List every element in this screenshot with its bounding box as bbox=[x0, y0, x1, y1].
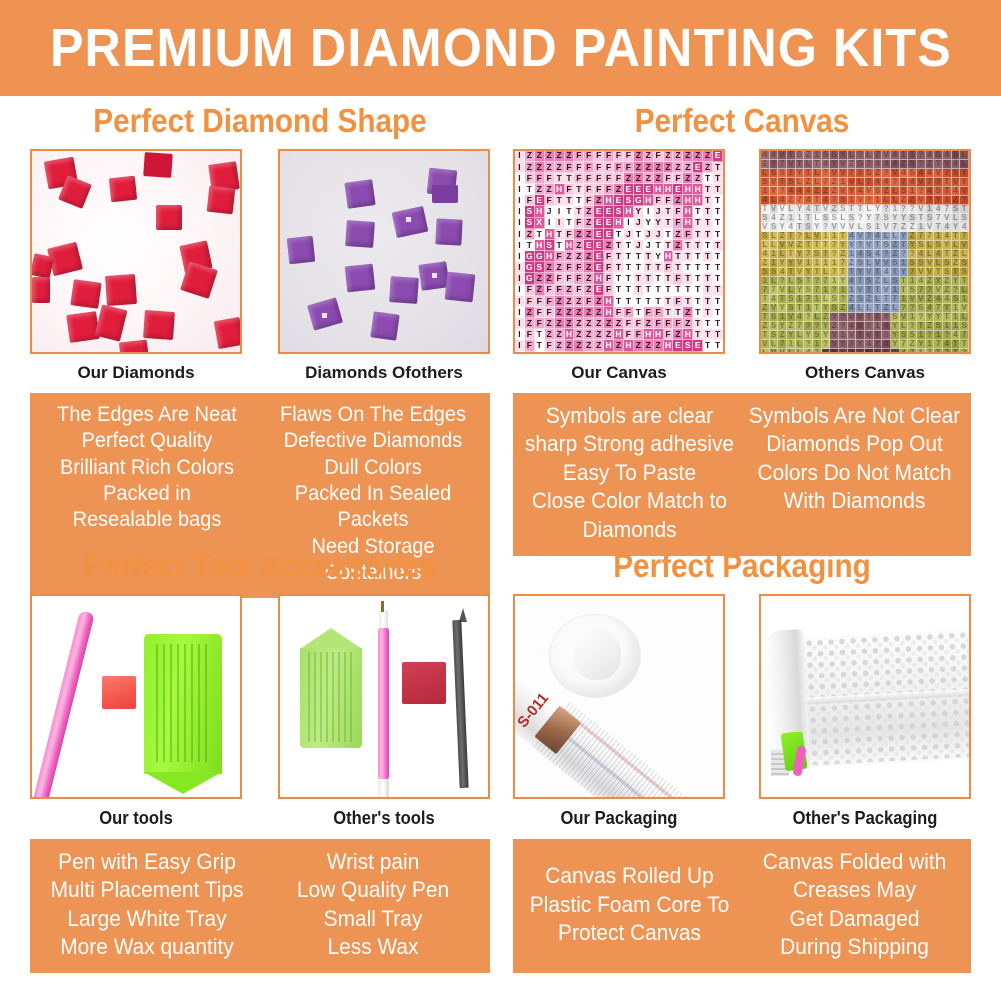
canvas-cell: T bbox=[664, 218, 674, 229]
canvas-cell: T bbox=[634, 285, 644, 296]
canvas-cell: Z bbox=[693, 173, 703, 184]
canvas-cell: F bbox=[584, 184, 594, 195]
canvas-cell: H bbox=[644, 329, 654, 340]
canvas-cell: I bbox=[515, 240, 525, 251]
canvas-cell: H bbox=[683, 329, 693, 340]
canvas-cell: Z bbox=[683, 318, 693, 329]
canvas-cell: T bbox=[664, 285, 674, 296]
canvas-cell: Y bbox=[654, 218, 664, 229]
canvas-cell: T bbox=[525, 184, 535, 195]
canvas-cell: Z bbox=[926, 349, 935, 354]
canvas-cell: I bbox=[555, 206, 565, 217]
section-heading: Perfect Packaging bbox=[536, 549, 948, 584]
canvas-cell: T bbox=[535, 340, 545, 351]
canvas-cell: F bbox=[545, 340, 555, 351]
canvas-cell: H bbox=[693, 195, 703, 206]
photo-our-packaging: S-011 bbox=[513, 594, 725, 799]
canvas-cell: F bbox=[574, 285, 584, 296]
canvas-cell: T bbox=[535, 229, 545, 240]
canvas-cell: T bbox=[664, 273, 674, 284]
canvas-cell: Y bbox=[634, 206, 644, 217]
canvas-cell: E bbox=[604, 229, 614, 240]
canvas-cell: F bbox=[614, 173, 624, 184]
canvas-cell: F bbox=[565, 273, 575, 284]
panel-our-canvas: IZZZZZFFFFFFZZFZZZZZEIZZZZFFFFFFFZZZZZZE… bbox=[513, 149, 725, 383]
canvas-cell: L bbox=[865, 349, 874, 354]
canvas-cell: F bbox=[604, 262, 614, 273]
canvas-cell: T bbox=[614, 229, 624, 240]
canvas-cell: H bbox=[594, 273, 604, 284]
section-packaging: Perfect Packaging S-011 Our P bbox=[513, 549, 971, 973]
canvas-cell: T bbox=[713, 318, 723, 329]
canvas-cell: H bbox=[555, 184, 565, 195]
canvas-cell: T bbox=[703, 195, 713, 206]
canvas-cell: I bbox=[515, 151, 525, 162]
canvas-cell: Z bbox=[644, 173, 654, 184]
canvas-cell: H bbox=[664, 184, 674, 195]
canvas-cell: Z bbox=[584, 229, 594, 240]
canvas-cell: F bbox=[545, 195, 555, 206]
canvas-cell: T bbox=[713, 162, 723, 173]
canvas-cell: Z bbox=[654, 340, 664, 351]
canvas-cell: H bbox=[683, 184, 693, 195]
canvas-cell: Z bbox=[644, 318, 654, 329]
canvas-cell: T bbox=[713, 240, 723, 251]
canvas-cell: T bbox=[703, 273, 713, 284]
canvas-cell: T bbox=[703, 318, 713, 329]
canvas-cell: H bbox=[654, 184, 664, 195]
canvas-cell: S bbox=[525, 218, 535, 229]
canvas-cell: Z bbox=[574, 340, 584, 351]
canvas-cell: F bbox=[535, 318, 545, 329]
canvas-cell: H bbox=[624, 206, 634, 217]
canvas-cell: E bbox=[604, 218, 614, 229]
panel-other-tools: Other's tools bbox=[278, 594, 490, 829]
canvas-cell: J bbox=[634, 218, 644, 229]
canvas-cell: Z bbox=[565, 307, 575, 318]
canvas-cell: I bbox=[515, 162, 525, 173]
canvas-cell: Z bbox=[565, 340, 575, 351]
canvas-cell: H bbox=[545, 229, 555, 240]
canvas-cell: Z bbox=[604, 240, 614, 251]
canvas-cell: F bbox=[525, 329, 535, 340]
infographic-page: PREMIUM DIAMOND PAINTING KITS Perfect Di… bbox=[0, 0, 1001, 1001]
canvas-cell: I bbox=[515, 206, 525, 217]
canvas-cell: T bbox=[693, 206, 703, 217]
canvas-cell: T bbox=[703, 184, 713, 195]
canvas-cell: Z bbox=[654, 173, 664, 184]
canvas-cell: F bbox=[535, 296, 545, 307]
canvas-cell: G bbox=[525, 251, 535, 262]
textblock-theirs: Symbols Are Not Clear Diamonds Pop Out C… bbox=[748, 402, 962, 545]
canvas-cell: Z bbox=[574, 318, 584, 329]
canvas-cell: T bbox=[634, 273, 644, 284]
textblock-tools: Pen with Easy Grip Multi Placement Tips … bbox=[30, 839, 490, 973]
canvas-cell: Z bbox=[584, 340, 594, 351]
canvas-cell: F bbox=[624, 151, 634, 162]
canvas-cell: L bbox=[761, 349, 770, 354]
canvas-cell: Z bbox=[565, 251, 575, 262]
canvas-cell: T bbox=[664, 240, 674, 251]
canvas-cell: I bbox=[515, 262, 525, 273]
canvas-cell: F bbox=[673, 296, 683, 307]
canvas-cell: T bbox=[565, 195, 575, 206]
canvas-cell: T bbox=[525, 240, 535, 251]
canvas-cell: F bbox=[664, 262, 674, 273]
panel-our-tools: Our tools bbox=[30, 594, 242, 829]
panel-other-diamonds: Diamonds Ofothers bbox=[278, 149, 490, 383]
canvas-cell: T bbox=[673, 251, 683, 262]
canvas-cell: H bbox=[644, 195, 654, 206]
canvas-cell: H bbox=[604, 296, 614, 307]
canvas-cell: Z bbox=[565, 151, 575, 162]
canvas-cell: H bbox=[604, 307, 614, 318]
canvas-cell: T bbox=[565, 206, 575, 217]
canvas-cell: Z bbox=[584, 285, 594, 296]
canvas-cell: I bbox=[515, 296, 525, 307]
canvas-cell: T bbox=[614, 262, 624, 273]
canvas-cell: F bbox=[574, 273, 584, 284]
canvas-cell: F bbox=[574, 218, 584, 229]
canvas-symbol-grid: IZZZZZFFFFFFZZFZZZZZEIZZZZFFFFFFFZZZZZZE… bbox=[515, 151, 723, 352]
canvas-cell: S bbox=[525, 206, 535, 217]
page-title: PREMIUM DIAMOND PAINTING KITS bbox=[50, 17, 952, 79]
canvas-cell: T bbox=[614, 296, 624, 307]
canvas-cell: S bbox=[683, 340, 693, 351]
section-heading: Perfect Diamond Shape bbox=[53, 104, 467, 139]
header-banner: PREMIUM DIAMOND PAINTING KITS bbox=[0, 0, 1001, 96]
canvas-cell: Y bbox=[644, 218, 654, 229]
canvas-cell: Y bbox=[654, 251, 664, 262]
panel-pair: S-011 Our Packaging bbox=[513, 594, 971, 829]
canvas-cell: G bbox=[525, 273, 535, 284]
canvas-cell: Z bbox=[614, 184, 624, 195]
canvas-cell: E bbox=[673, 340, 683, 351]
canvas-cell: T bbox=[673, 262, 683, 273]
canvas-cell: T bbox=[644, 273, 654, 284]
panel-other-canvas: 44VTSZ1SSYL?L7V41T?4S4SL1?7VTLT4YVZS7444… bbox=[759, 149, 971, 383]
canvas-cell: I bbox=[515, 285, 525, 296]
canvas-cell: T bbox=[624, 251, 634, 262]
canvas-cell: I bbox=[515, 318, 525, 329]
canvas-cell: T bbox=[693, 229, 703, 240]
canvas-cell: T bbox=[713, 307, 723, 318]
canvas-cell: Z bbox=[574, 251, 584, 262]
canvas-cell: I bbox=[515, 340, 525, 351]
canvas-cell: Z bbox=[693, 151, 703, 162]
canvas-cell: J bbox=[634, 240, 644, 251]
canvas-cell: T bbox=[654, 240, 664, 251]
canvas-cell: T bbox=[683, 273, 693, 284]
canvas-cell: F bbox=[555, 285, 565, 296]
canvas-cell: T bbox=[644, 262, 654, 273]
canvas-cell: F bbox=[574, 173, 584, 184]
canvas-cell: Z bbox=[683, 151, 693, 162]
canvas-cell: F bbox=[624, 318, 634, 329]
mailer-contents bbox=[771, 732, 815, 776]
canvas-cell: T bbox=[614, 251, 624, 262]
canvas-cell: T bbox=[693, 240, 703, 251]
canvas-cell: Z bbox=[634, 340, 644, 351]
canvas-cell: X bbox=[535, 218, 545, 229]
canvas-cell: H bbox=[604, 340, 614, 351]
canvas-cell: T bbox=[703, 285, 713, 296]
canvas-cell: E bbox=[594, 206, 604, 217]
canvas-cell: F bbox=[584, 195, 594, 206]
panel-pair: IZZZZZFFFFFFZZFZZZZZEIZZZZFFFFFFFZZZZZZE… bbox=[513, 149, 971, 383]
canvas-cell: Z bbox=[634, 151, 644, 162]
canvas-cell: E bbox=[594, 218, 604, 229]
caption-other-packaging: Other's Packaging bbox=[767, 808, 962, 829]
canvas-cell: S bbox=[535, 262, 545, 273]
canvas-cell: Z bbox=[614, 318, 624, 329]
canvas-cell: T bbox=[693, 307, 703, 318]
canvas-cell: I bbox=[515, 229, 525, 240]
canvas-cell: Z bbox=[555, 262, 565, 273]
canvas-cell: J bbox=[545, 206, 555, 217]
canvas-cell: I bbox=[515, 307, 525, 318]
caption-other-canvas: Others Canvas bbox=[759, 363, 971, 383]
canvas-cell: H bbox=[624, 340, 634, 351]
canvas-cell: 1 bbox=[891, 349, 900, 354]
tray-ribs bbox=[308, 652, 354, 742]
canvas-cell: Z bbox=[664, 162, 674, 173]
canvas-cell: F bbox=[584, 162, 594, 173]
canvas-cell: T bbox=[644, 285, 654, 296]
panel-pair: Our Diamonds bbox=[30, 149, 490, 383]
canvas-cell: T bbox=[664, 206, 674, 217]
canvas-cell: J bbox=[624, 229, 634, 240]
canvas-cell: T bbox=[624, 240, 634, 251]
canvas-cell: H bbox=[565, 329, 575, 340]
canvas-cell: T bbox=[703, 173, 713, 184]
canvas-cell: I bbox=[624, 218, 634, 229]
canvas-cell: Z bbox=[525, 307, 535, 318]
canvas-cell: H bbox=[535, 240, 545, 251]
canvas-cell: F bbox=[673, 318, 683, 329]
tray-ribs bbox=[156, 644, 210, 762]
canvas-cell: F bbox=[664, 318, 674, 329]
canvas-cell: T bbox=[683, 296, 693, 307]
caption-our-tools: Our tools bbox=[38, 808, 233, 829]
canvas-cell: T bbox=[565, 173, 575, 184]
canvas-cell: H bbox=[654, 329, 664, 340]
canvas-cell: T bbox=[634, 229, 644, 240]
canvas-cell: T bbox=[664, 296, 674, 307]
canvas-cell: T bbox=[693, 318, 703, 329]
canvas-cell: Z bbox=[535, 151, 545, 162]
photo-our-canvas: IZZZZZFFFFFFZZFZZZZZEIZZZZFFFFFFFZZZZZZE… bbox=[513, 149, 725, 354]
canvas-cell: T bbox=[713, 262, 723, 273]
canvas-cell: F bbox=[545, 173, 555, 184]
canvas-cell: Z bbox=[525, 318, 535, 329]
canvas-cell: H bbox=[683, 206, 693, 217]
canvas-cell: T bbox=[693, 262, 703, 273]
canvas-cell: Z bbox=[555, 307, 565, 318]
canvas-cell: F bbox=[634, 318, 644, 329]
canvas-cell: Z bbox=[644, 151, 654, 162]
canvas-cell: I bbox=[515, 251, 525, 262]
caption-other-diamonds: Diamonds Ofothers bbox=[278, 363, 490, 383]
canvas-cell: H bbox=[614, 329, 624, 340]
canvas-cell: T bbox=[683, 285, 693, 296]
canvas-cell: T bbox=[654, 262, 664, 273]
canvas-cell: F bbox=[614, 162, 624, 173]
section-heading: Perfect Canvas bbox=[536, 104, 948, 139]
canvas-cell: T bbox=[703, 240, 713, 251]
canvas-cell: Z bbox=[584, 206, 594, 217]
canvas-cell: F bbox=[604, 184, 614, 195]
tube-cap-inner bbox=[573, 628, 621, 680]
canvas-cell: F bbox=[634, 329, 644, 340]
canvas-cell: V bbox=[770, 349, 779, 354]
canvas-cell: H bbox=[614, 218, 624, 229]
textblock-theirs: Wrist pain Low Quality Pen Small Tray Le… bbox=[266, 848, 481, 962]
canvas-cell: Z bbox=[555, 296, 565, 307]
canvas-cell: I bbox=[515, 218, 525, 229]
canvas-cell: T bbox=[614, 285, 624, 296]
canvas-cell: S bbox=[545, 240, 555, 251]
canvas-cell: Z bbox=[673, 240, 683, 251]
canvas-cell: Z bbox=[683, 173, 693, 184]
canvas-cell: F bbox=[525, 195, 535, 206]
canvas-cell: Z bbox=[624, 173, 634, 184]
canvas-cell: T bbox=[703, 329, 713, 340]
canvas-cell: T bbox=[693, 285, 703, 296]
canvas-cell: F bbox=[654, 195, 664, 206]
canvas-cell: J bbox=[654, 229, 664, 240]
canvas-cell: Z bbox=[584, 329, 594, 340]
canvas-cell: F bbox=[604, 173, 614, 184]
canvas-symbol-grid: 44VTSZ1SSYL?L7V41T?4S4SL1?7VTLT4YVZS7444… bbox=[761, 151, 969, 352]
canvas-cell: F bbox=[565, 262, 575, 273]
canvas-cell: 7 bbox=[813, 349, 822, 354]
canvas-cell: F bbox=[535, 307, 545, 318]
canvas-cell: T bbox=[713, 229, 723, 240]
canvas-cell: Z bbox=[584, 273, 594, 284]
canvas-cell: F bbox=[594, 162, 604, 173]
canvas-cell: Z bbox=[594, 329, 604, 340]
canvas-cell: F bbox=[555, 251, 565, 262]
canvas-cell: E bbox=[693, 340, 703, 351]
canvas-cell: T bbox=[624, 262, 634, 273]
canvas-cell: T bbox=[673, 285, 683, 296]
canvas-cell: Z bbox=[614, 340, 624, 351]
canvas-cell: T bbox=[614, 273, 624, 284]
canvas-cell: T bbox=[934, 349, 943, 354]
canvas-cell: T bbox=[555, 195, 565, 206]
canvas-cell: Y bbox=[822, 349, 831, 354]
caption-our-canvas: Our Canvas bbox=[513, 363, 725, 383]
canvas-cell: F bbox=[555, 273, 565, 284]
canvas-cell: I bbox=[555, 218, 565, 229]
section-diamond-shape: Perfect Diamond Shape bbox=[30, 104, 490, 598]
canvas-cell: F bbox=[604, 162, 614, 173]
canvas-cell: Z bbox=[545, 162, 555, 173]
canvas-cell: L bbox=[787, 349, 796, 354]
canvas-cell: Z bbox=[634, 173, 644, 184]
canvas-cell: T bbox=[693, 218, 703, 229]
canvas-cell: 7 bbox=[943, 349, 952, 354]
canvas-cell: T bbox=[555, 240, 565, 251]
textblock-ours: Canvas Rolled Up Plastic Foam Core To Pr… bbox=[523, 848, 737, 962]
canvas-cell: T bbox=[713, 296, 723, 307]
canvas-cell: Z bbox=[654, 162, 664, 173]
caption-our-packaging: Our Packaging bbox=[521, 808, 716, 829]
canvas-cell: Z bbox=[594, 340, 604, 351]
canvas-cell: F bbox=[584, 173, 594, 184]
panel-our-packaging: S-011 Our Packaging bbox=[513, 594, 725, 829]
canvas-cell: L bbox=[830, 349, 839, 354]
canvas-cell: V bbox=[778, 349, 787, 354]
textblock-packaging: Canvas Rolled Up Plastic Foam Core To Pr… bbox=[513, 839, 971, 973]
canvas-cell: Z bbox=[584, 251, 594, 262]
canvas-cell: Z bbox=[584, 218, 594, 229]
canvas-cell: Z bbox=[565, 285, 575, 296]
canvas-cell: E bbox=[594, 240, 604, 251]
canvas-cell: E bbox=[594, 229, 604, 240]
canvas-cell: E bbox=[713, 151, 723, 162]
canvas-cell: Z bbox=[594, 195, 604, 206]
textblock-theirs: Canvas Folded with Creases May Get Damag… bbox=[748, 848, 962, 962]
canvas-cell: H bbox=[683, 218, 693, 229]
canvas-cell: T bbox=[555, 173, 565, 184]
canvas-cell: I bbox=[545, 218, 555, 229]
canvas-cell: F bbox=[574, 162, 584, 173]
canvas-cell: H bbox=[664, 251, 674, 262]
canvas-cell: J bbox=[644, 240, 654, 251]
canvas-cell: Z bbox=[525, 151, 535, 162]
canvas-cell: E bbox=[584, 240, 594, 251]
canvas-cell: E bbox=[673, 184, 683, 195]
canvas-cell: Z bbox=[555, 318, 565, 329]
canvas-cell: T bbox=[574, 184, 584, 195]
canvas-cell: T bbox=[634, 296, 644, 307]
canvas-cell: T bbox=[644, 296, 654, 307]
pen-tip bbox=[381, 601, 384, 612]
canvas-cell: S bbox=[624, 195, 634, 206]
canvas-cell: Z bbox=[673, 329, 683, 340]
textblock-ours: Pen with Easy Grip Multi Placement Tips … bbox=[40, 848, 255, 962]
canvas-cell: Z bbox=[644, 162, 654, 173]
canvas-cell: Z bbox=[673, 195, 683, 206]
canvas-cell: F bbox=[565, 184, 575, 195]
canvas-cell: I bbox=[644, 206, 654, 217]
canvas-cell: T bbox=[713, 206, 723, 217]
canvas-cell: Z bbox=[594, 307, 604, 318]
canvas-cell: E bbox=[634, 184, 644, 195]
canvas-cell: E bbox=[644, 184, 654, 195]
canvas-cell: F bbox=[574, 262, 584, 273]
canvas-cell: I bbox=[515, 184, 525, 195]
canvas-cell: G bbox=[634, 195, 644, 206]
photo-our-tools bbox=[30, 594, 242, 799]
canvas-cell: 4 bbox=[848, 349, 857, 354]
canvas-cell: Z bbox=[545, 273, 555, 284]
canvas-cell: J bbox=[654, 206, 664, 217]
canvas-cell: Z bbox=[683, 307, 693, 318]
section-heading: Perfect Tool Accessories bbox=[53, 549, 467, 584]
canvas-cell: Z bbox=[555, 329, 565, 340]
canvas-cell: 1 bbox=[917, 349, 926, 354]
canvas-cell: T bbox=[703, 251, 713, 262]
canvas-cell: F bbox=[654, 318, 664, 329]
canvas-cell: T bbox=[634, 262, 644, 273]
canvas-cell: F bbox=[565, 162, 575, 173]
canvas-cell: T bbox=[683, 251, 693, 262]
canvas-cell: Z bbox=[574, 240, 584, 251]
photo-other-diamonds bbox=[278, 149, 490, 354]
